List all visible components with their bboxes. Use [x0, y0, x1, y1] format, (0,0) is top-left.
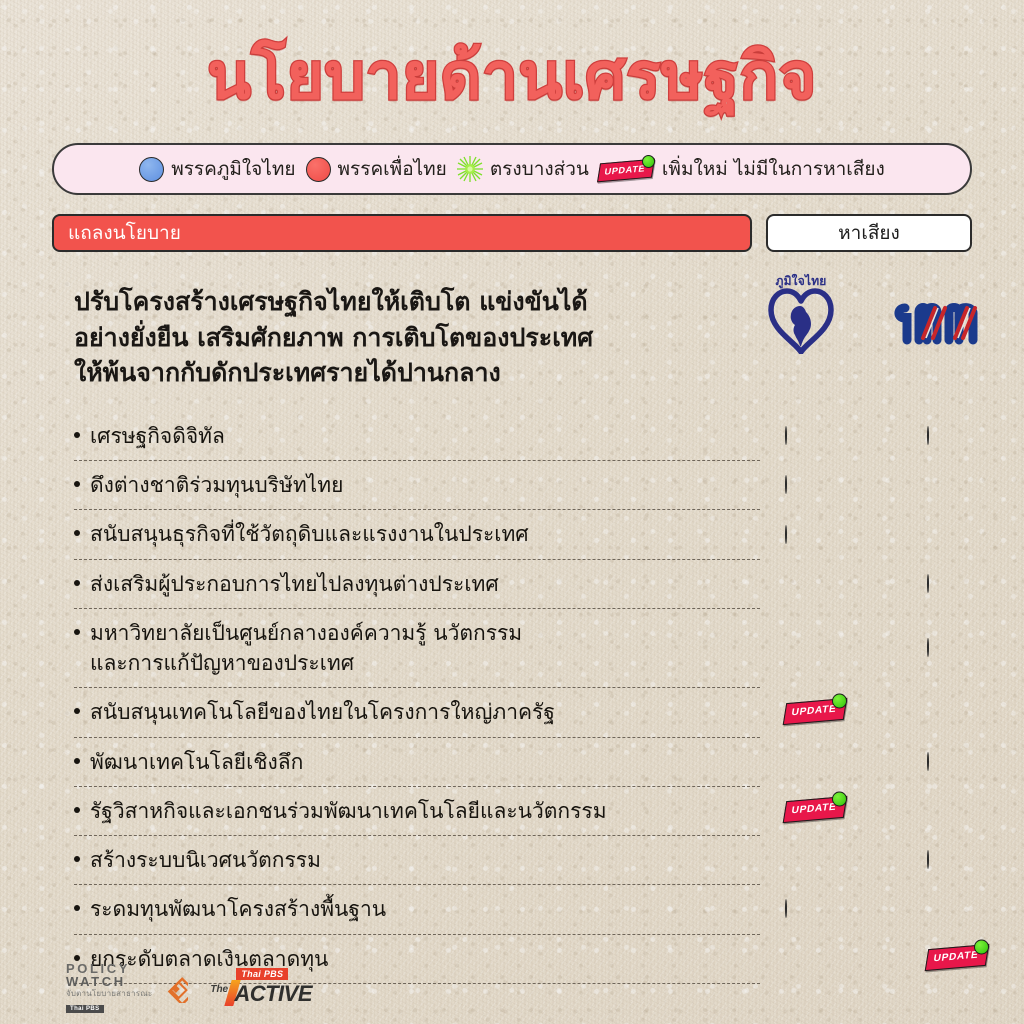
bhumjaithai-dot-marker: [785, 426, 787, 445]
list-item-label: ระดมทุนพัฒนาโครงสร้างพื้นฐาน: [74, 885, 760, 933]
marker-cell-pheuthai: [927, 753, 929, 771]
marker-cell-bhumjaithai: UPDATE: [785, 698, 847, 727]
the-active-logo: Thai PBS The ACTIVE: [210, 968, 306, 1008]
list-item-label: รัฐวิสาหกิจและเอกชนร่วมพัฒนาเทคโนโลยีและ…: [74, 787, 760, 835]
the-active-the-text: The: [210, 984, 228, 995]
green-starburst-icon: [457, 156, 483, 182]
legend-item-partial: ตรงบางส่วน: [457, 154, 589, 184]
green-dot-icon: [974, 939, 989, 954]
marker-cell-pheuthai: UPDATE: [927, 944, 989, 973]
bhumjaithai-dot-marker: [785, 525, 787, 544]
pheuthai-dot-marker: [927, 850, 929, 869]
list-item-label: สนับสนุนเทคโนโลยีของไทยในโครงการใหญ่ภาคร…: [74, 688, 760, 736]
list-item-label: เศรษฐกิจดิจิทัล: [74, 412, 760, 460]
list-item-label: พัฒนาเทคโนโลยีเชิงลึก: [74, 738, 760, 786]
pheuthai-mark-icon: [893, 292, 989, 348]
legend-item-pheuthai: พรรคเพื่อไทย: [306, 154, 447, 184]
update-badge-icon: UPDATE: [785, 796, 847, 820]
the-active-word-text: ACTIVE: [234, 981, 312, 1007]
infographic-page: นโยบายด้านเศรษฐกิจ พรรคภูมิใจไทย พรรคเพื…: [0, 0, 1024, 1024]
pheuthai-dot-marker: [927, 638, 929, 657]
legend-label-partial: ตรงบางส่วน: [490, 154, 589, 184]
marker-cell-bhumjaithai: [785, 427, 787, 445]
update-badge-icon: UPDATE: [599, 159, 655, 180]
pheuthai-logo: [893, 292, 989, 348]
footer-logos: POLICY WATCH จับตานโยบายสาธารณะ Thai PBS…: [66, 962, 306, 1014]
legend-item-new: UPDATE เพิ่มใหม่ ไม่มีในการหาเสียง: [599, 154, 885, 184]
pheuthai-dot-marker: [927, 752, 929, 771]
list-item: ส่งเสริมผู้ประกอบการไทยไปลงทุนต่างประเทศ: [74, 560, 760, 609]
marker-cell-pheuthai: [927, 851, 929, 869]
section-heading-line-2: อย่างยั่งยืน เสริมศักยภาพ การเติบโตของปร…: [74, 320, 694, 356]
green-dot-icon: [642, 155, 655, 168]
list-item: ระดมทุนพัฒนาโครงสร้างพื้นฐาน: [74, 885, 760, 934]
green-dot-icon: [832, 693, 847, 708]
legend-item-bhumjaithai: พรรคภูมิใจไทย: [139, 154, 295, 184]
diamond-icon: [158, 973, 188, 1003]
update-badge-icon: UPDATE: [785, 698, 847, 722]
list-item: พัฒนาเทคโนโลยีเชิงลึก: [74, 738, 760, 787]
tab-campaign[interactable]: หาเสียง: [766, 214, 972, 252]
marker-cell-pheuthai: [927, 639, 929, 657]
list-item: รัฐวิสาหกิจและเอกชนร่วมพัฒนาเทคโนโลยีและ…: [74, 787, 760, 836]
the-active-thaipbs-badge: Thai PBS: [236, 968, 288, 980]
pheuthai-dot-marker: [927, 574, 929, 593]
list-item-label: สนับสนุนธุรกิจที่ใช้วัตถุดิบและแรงงานในป…: [74, 510, 760, 558]
list-item-label: สร้างระบบนิเวศนวัตกรรม: [74, 836, 760, 884]
page-title: นโยบายด้านเศรษฐกิจ: [207, 44, 817, 111]
policy-watch-thaipbs-badge: Thai PBS: [66, 1005, 104, 1013]
list-item-label: มหาวิทยาลัยเป็นศูนย์กลางองค์ความรู้ นวัต…: [74, 609, 760, 687]
marker-cell-pheuthai: [927, 427, 929, 445]
policy-watch-line2: WATCH: [66, 975, 152, 988]
list-item-label: ดึงต่างชาติร่วมทุนบริษัทไทย: [74, 461, 760, 509]
update-badge-icon: UPDATE: [927, 944, 989, 968]
red-circle-icon: [306, 157, 331, 182]
marker-cell-pheuthai: [927, 575, 929, 593]
marker-cell-bhumjaithai: UPDATE: [785, 796, 847, 825]
policy-watch-subtitle: จับตานโยบายสาธารณะ: [66, 990, 152, 998]
section-heading: ปรับโครงสร้างเศรษฐกิจไทยให้เติบโต แข่งขั…: [74, 284, 694, 391]
list-item: เศรษฐกิจดิจิทัล: [74, 412, 760, 461]
pheuthai-dot-marker: [927, 426, 929, 445]
list-item-continuation: และการแก้ปัญหาของประเทศ: [90, 648, 760, 678]
green-dot-icon: [832, 791, 847, 806]
blue-circle-icon: [139, 157, 164, 182]
marker-cell-bhumjaithai: [785, 900, 787, 918]
legend-label-pheuthai: พรรคเพื่อไทย: [338, 154, 447, 184]
policy-list: เศรษฐกิจดิจิทัลดึงต่างชาติร่วมทุนบริษัทไ…: [74, 412, 974, 984]
list-item: ดึงต่างชาติร่วมทุนบริษัทไทย: [74, 461, 760, 510]
bhumjaithai-logo: ภูมิใจไทย: [757, 272, 845, 358]
bhumjaithai-dot-marker: [785, 899, 787, 918]
page-title-container: นโยบายด้านเศรษฐกิจ: [0, 44, 1024, 111]
legend-bar: พรรคภูมิใจไทย พรรคเพื่อไทย: [52, 143, 972, 195]
list-item: มหาวิทยาลัยเป็นศูนย์กลางองค์ความรู้ นวัต…: [74, 609, 760, 688]
list-item: สร้างระบบนิเวศนวัตกรรม: [74, 836, 760, 885]
section-heading-line-3: ให้พ้นจากกับดักประเทศรายได้ปานกลาง: [74, 355, 694, 391]
tab-policy-statement[interactable]: แถลงนโยบาย: [52, 214, 752, 252]
policy-watch-text: POLICY WATCH จับตานโยบายสาธารณะ Thai PBS: [66, 962, 152, 1014]
section-heading-line-1: ปรับโครงสร้างเศรษฐกิจไทยให้เติบโต แข่งขั…: [74, 284, 694, 320]
policy-watch-logo: POLICY WATCH จับตานโยบายสาธารณะ Thai PBS: [66, 962, 188, 1014]
legend-label-new: เพิ่มใหม่ ไม่มีในการหาเสียง: [662, 154, 885, 184]
list-item-label: ส่งเสริมผู้ประกอบการไทยไปลงทุนต่างประเทศ: [74, 560, 760, 608]
marker-cell-bhumjaithai: [785, 526, 787, 544]
bhumjaithai-dot-marker: [785, 475, 787, 494]
list-item: สนับสนุนเทคโนโลยีของไทยในโครงการใหญ่ภาคร…: [74, 688, 760, 737]
legend-label-bhumjaithai: พรรคภูมิใจไทย: [171, 154, 295, 184]
marker-cell-bhumjaithai: [785, 476, 787, 494]
bhumjaithai-heart-icon: [765, 286, 837, 354]
list-item: สนับสนุนธุรกิจที่ใช้วัตถุดิบและแรงงานในป…: [74, 510, 760, 559]
tab-bar: แถลงนโยบาย หาเสียง: [52, 214, 972, 252]
